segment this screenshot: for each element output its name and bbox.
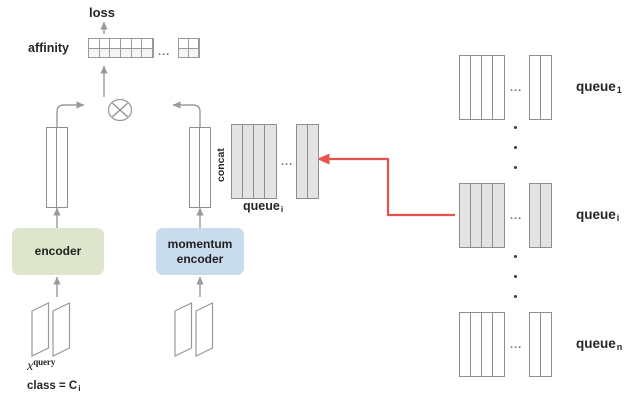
queue-i-caption: queuei	[243, 200, 283, 214]
vertical-dot	[514, 166, 517, 169]
query-vector	[46, 127, 68, 208]
queue-i-caption-sub: i	[281, 204, 283, 214]
queue-n-label-text: queue	[576, 336, 616, 351]
queue-n-right-block	[529, 312, 552, 377]
key-vector	[189, 127, 211, 208]
queue-i-left-block	[459, 183, 505, 248]
class-label-sub: i	[78, 383, 80, 393]
class-label-text: class = C	[27, 380, 77, 392]
queue-i-label: queuei	[576, 208, 619, 223]
momentum-encoder-label-line2: encoder	[177, 252, 224, 266]
affinity-label: affinity	[28, 42, 69, 55]
x-query-label: xquery	[27, 358, 55, 374]
query-image-icon	[32, 303, 70, 356]
loss-label: loss	[89, 6, 115, 19]
vertical-dot	[514, 255, 517, 258]
x-query-superscript: query	[33, 357, 55, 367]
queue-i-right-block	[529, 183, 552, 248]
encoder-box[interactable]: encoder	[12, 228, 104, 275]
queue-i-caption-text: queue	[243, 199, 280, 213]
encoder-label: encoder	[35, 244, 82, 258]
affinity-cells-left	[88, 38, 154, 58]
arrow-key-to-operator	[173, 105, 200, 127]
queue-i-ellipsis: ...	[510, 211, 522, 222]
queue-n-ellipsis: ...	[510, 340, 522, 351]
affinity-cells-right	[178, 38, 200, 58]
multiply-operator-icon	[109, 100, 132, 121]
diagram-canvas: loss affinity concat ... ...	[0, 0, 640, 403]
vertical-dot	[514, 126, 517, 129]
queue-n-left-block	[459, 312, 505, 377]
queue-i-label-text: queue	[576, 207, 616, 222]
queue-n-label: queuen	[576, 337, 622, 352]
queue-1-label: queue1	[576, 80, 622, 95]
vertical-dot	[514, 295, 517, 298]
queue-1-label-text: queue	[576, 79, 616, 94]
highlight-queue-selection-arrow	[318, 159, 455, 215]
vertical-dot	[514, 146, 517, 149]
queue-n-label-sub: n	[617, 342, 623, 352]
momentum-encoder-label-line1: momentum	[168, 237, 233, 251]
queue-i-label-sub: i	[617, 213, 620, 223]
class-label: class = Ci	[27, 381, 81, 393]
queue-i-block-ellipsis: ...	[281, 157, 293, 168]
queue-1-label-sub: 1	[617, 85, 622, 95]
queue-i-block-right	[296, 124, 319, 199]
concat-label: concat	[215, 148, 227, 182]
queue-1-ellipsis: ...	[510, 83, 522, 94]
affinity-ellipsis: ...	[158, 47, 170, 58]
queue-i-block-left	[231, 124, 277, 199]
vertical-dot	[514, 275, 517, 278]
queue-1-left-block	[459, 55, 505, 120]
queue-1-right-block	[529, 55, 552, 120]
momentum-encoder-box[interactable]: momentum encoder	[156, 228, 244, 275]
arrow-query-to-operator	[57, 105, 84, 127]
key-image-icon	[175, 303, 213, 356]
